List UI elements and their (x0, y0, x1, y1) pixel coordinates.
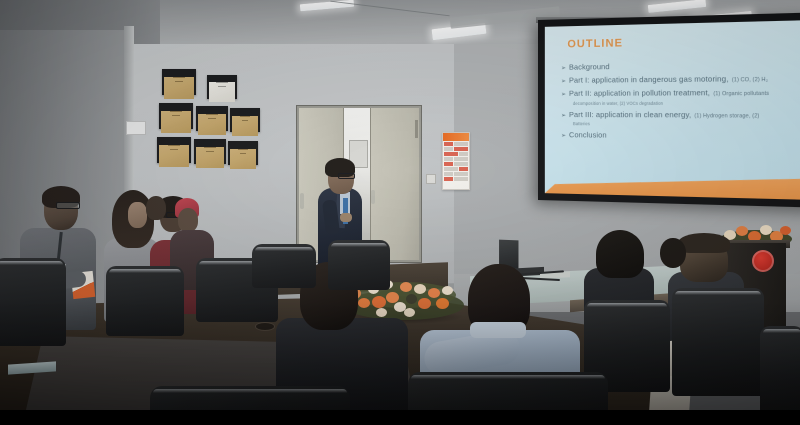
bullet-main-text: Part I: application in dangerous gas mot… (569, 75, 729, 85)
bullet-sub-text: (1) CO, (2) H₂ (732, 78, 768, 84)
bullet-continuation-text: Batteries (573, 122, 800, 128)
bullet-continuation-text: decomposition in water, (2) VOCs degrada… (573, 100, 800, 106)
flower-petal (428, 288, 440, 298)
woman-left-face (128, 202, 147, 228)
bullet-main-text: Part III: application in clean energy, (569, 111, 691, 120)
wall-plaque-8 (228, 141, 258, 165)
bullet-arrow-icon: ➢ (561, 134, 566, 141)
bullet-main-text: Part II: application in pollution treatm… (569, 89, 710, 98)
glasses-icon (338, 173, 355, 179)
notice-row (444, 147, 468, 151)
bullet-main-text: Background (569, 63, 610, 72)
door-right-leaf[interactable] (370, 108, 419, 260)
bullet-sub-text: (1) Hydrogen storage, (2) (694, 114, 759, 120)
door-handle-left[interactable] (300, 193, 304, 209)
bullet-arrow-icon: ➢ (561, 113, 566, 120)
notice-row (444, 172, 468, 176)
wall-plaque-2 (207, 75, 237, 99)
flower-petal (436, 298, 449, 309)
wall-plaque-1 (162, 69, 196, 95)
notice-row (444, 157, 468, 161)
list-item: ➢ Conclusion (561, 132, 800, 143)
man-blue-shirt-collar (470, 322, 526, 338)
bullet-sub-text: (1) Organic pollutants (713, 92, 769, 98)
wall-notice-board (442, 132, 470, 190)
seminar-room-photo: OUTLINE ➢ Background ➢ Part I: applicati… (0, 0, 800, 425)
notice-row (444, 177, 468, 181)
notice-row (444, 162, 468, 166)
notice-row (444, 152, 468, 156)
list-item: ➢ Part II: application in pollution trea… (561, 88, 800, 98)
chair-left-1[interactable] (0, 258, 66, 346)
person-hat-head (178, 208, 198, 232)
presenter-hand (340, 213, 352, 222)
chair-left-2[interactable] (106, 266, 184, 336)
table-grommet[interactable] (255, 322, 275, 331)
wall-switch-box[interactable] (426, 174, 436, 184)
flower-petal (406, 294, 417, 304)
bullet-arrow-icon: ➢ (561, 65, 566, 72)
flower-petal (404, 308, 415, 317)
slide-bullet-list: ➢ Background ➢ Part I: application in da… (561, 60, 800, 148)
list-item: ➢ Part I: application in dangerous gas m… (561, 74, 800, 85)
flower-petal (414, 284, 426, 294)
woman-right-head (596, 230, 644, 278)
bullet-main-text: Conclusion (569, 132, 607, 141)
photo-bottom-border (0, 410, 800, 425)
door-handle-right[interactable] (371, 190, 375, 204)
chair-center-far[interactable] (252, 244, 316, 288)
wall-small-label (126, 121, 146, 135)
notice-row (444, 142, 468, 146)
slide-accent-bar (545, 171, 800, 200)
notice-row (444, 167, 468, 171)
flower-petal (780, 226, 791, 235)
flower-petal (376, 308, 387, 317)
notice-header (443, 133, 469, 141)
flower-petal (736, 226, 748, 236)
projection-screen: OUTLINE ➢ Background ➢ Part I: applicati… (538, 12, 800, 207)
slide-surface: OUTLINE ➢ Background ➢ Part I: applicati… (545, 20, 800, 200)
door-hinge-strip (415, 120, 418, 138)
chair-right-2[interactable] (672, 288, 764, 396)
wall-plaque-7 (194, 139, 226, 164)
person-far-right-head (660, 238, 686, 268)
wall-plaque-4 (196, 106, 228, 131)
flower-petal (400, 282, 412, 292)
wall-plaque-5 (230, 108, 260, 132)
list-item: ➢ Background (561, 60, 800, 72)
bullet-arrow-icon: ➢ (561, 78, 566, 85)
glasses-icon (56, 202, 80, 209)
chair-presenter-side[interactable] (328, 240, 390, 290)
flower-petal (442, 286, 453, 295)
person-far-left-head (146, 196, 166, 220)
slide-title: OUTLINE (567, 37, 623, 50)
flower-petal (418, 298, 431, 309)
bullet-arrow-icon: ➢ (561, 92, 566, 99)
flower-petal (372, 296, 386, 308)
flower-petal (358, 298, 370, 308)
podium-emblem-icon (752, 250, 774, 272)
wall-plaque-3 (159, 103, 193, 129)
list-item: ➢ Part III: application in clean energy,… (561, 111, 800, 120)
wall-plaque-6 (157, 137, 191, 163)
